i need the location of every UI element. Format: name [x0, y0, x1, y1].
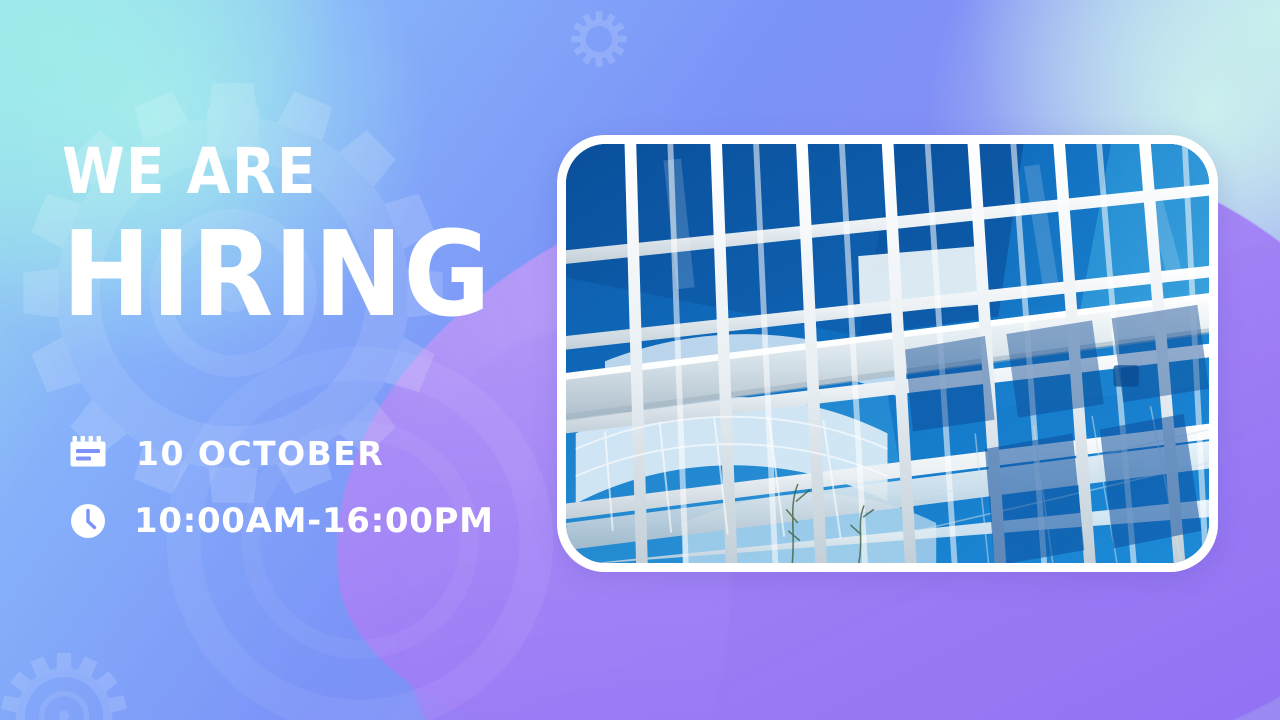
headline-line-2: HIRING	[62, 215, 582, 333]
gear-icon-small	[570, 10, 628, 68]
office-building-photo	[566, 144, 1209, 563]
event-date-label: 10 OCTOBER	[136, 434, 384, 473]
event-time-row: 10:00AM-16:00PM	[66, 498, 494, 544]
event-date-row: 10 OCTOBER	[66, 430, 494, 476]
calendar-icon	[66, 431, 110, 475]
hiring-banner: WE ARE HIRING 10 OCTOBER	[0, 0, 1280, 720]
clock-icon	[66, 499, 110, 543]
event-details: 10 OCTOBER 10:00AM-16:00PM	[66, 430, 494, 566]
event-time-label: 10:00AM-16:00PM	[134, 501, 494, 541]
headline-line-1: WE ARE	[62, 140, 582, 203]
gear-icon-corner	[0, 650, 130, 720]
photo-card-frame	[557, 135, 1218, 572]
headline-block: WE ARE HIRING	[62, 140, 582, 333]
